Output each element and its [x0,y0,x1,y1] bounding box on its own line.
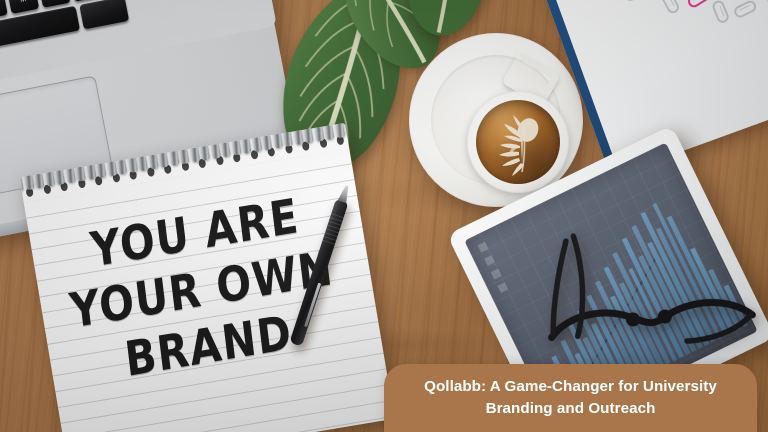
photo-stage: F G H M alt option C V B N M cmd [0,0,768,432]
caption-line-1: Qollabb: A Game-Changer for University [424,378,717,395]
caption-banner: Qollabb: A Game-Changer for University B… [384,364,757,432]
caption-text: Qollabb: A Game-Changer for University B… [410,376,731,419]
caption-line-2: Branding and Outreach [424,398,717,420]
